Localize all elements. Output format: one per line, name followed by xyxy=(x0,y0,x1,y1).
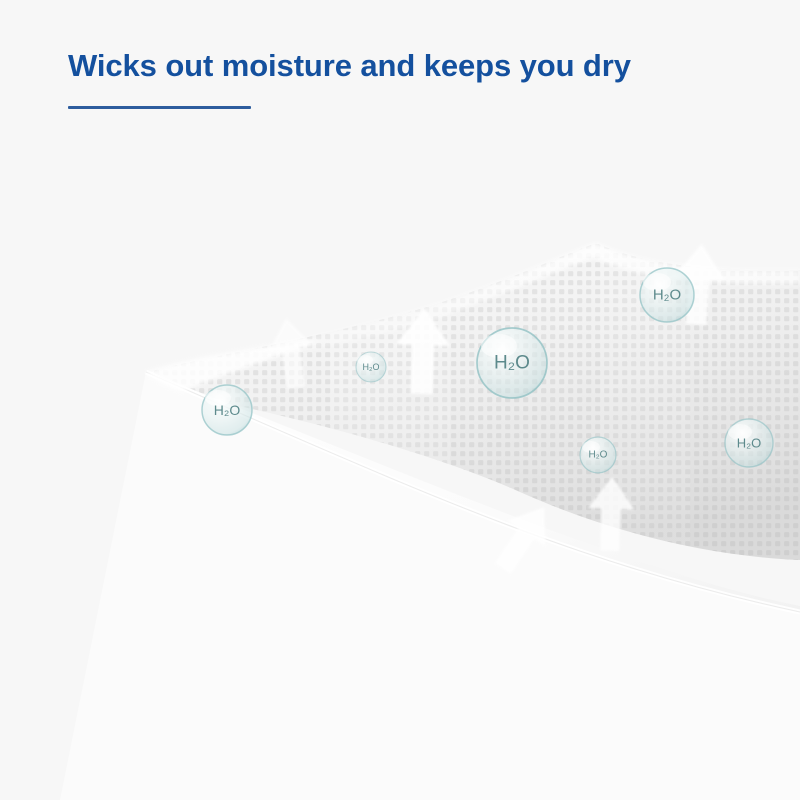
page-title: Wicks out moisture and keeps you dry xyxy=(68,48,768,85)
bubble-label: H₂O xyxy=(589,450,608,461)
heading-block: Wicks out moisture and keeps you dry xyxy=(68,48,768,85)
page-root: H₂O H₂O H₂O H₂O xyxy=(0,0,800,800)
h2o-bubble: H₂O xyxy=(202,385,252,435)
h2o-bubble: H₂O xyxy=(356,352,386,382)
h2o-bubble: H₂O xyxy=(477,328,547,398)
h2o-bubble: H₂O xyxy=(640,268,694,322)
h2o-bubble: H₂O xyxy=(725,419,773,467)
h2o-bubble: H₂O xyxy=(580,437,616,473)
bubble-label: H₂O xyxy=(494,353,530,374)
illustration-stage: H₂O H₂O H₂O H₂O xyxy=(0,0,800,800)
title-underline-rule xyxy=(68,106,251,109)
bubble-label: H₂O xyxy=(363,362,380,372)
bubble-label: H₂O xyxy=(653,287,681,304)
bubble-label: H₂O xyxy=(737,436,762,451)
bubble-label: H₂O xyxy=(214,402,241,418)
